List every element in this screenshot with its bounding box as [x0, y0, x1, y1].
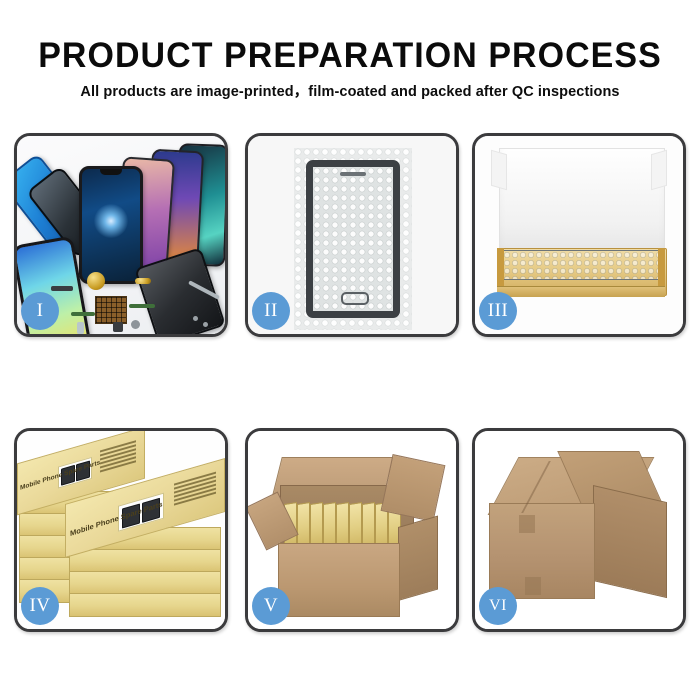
- step-badge-6: VI: [479, 587, 517, 625]
- step-panel-1: I: [14, 133, 228, 337]
- step-5-image: V: [248, 431, 456, 629]
- box-lid-flap-left: [491, 150, 507, 191]
- part-sim-tray: [77, 322, 84, 334]
- tray-front-edge: [497, 286, 665, 297]
- step-panel-3: III: [472, 133, 686, 337]
- carton-front-face: [278, 543, 400, 617]
- part-flex-cable-right: [129, 304, 155, 308]
- carton-right-face: [593, 485, 667, 598]
- step-badge-1: I: [21, 292, 59, 330]
- stacked-box: [69, 571, 221, 595]
- lid-spec-lines: [174, 472, 216, 508]
- carton-front-face: [489, 503, 595, 599]
- page-subtitle: All products are image-printed，film-coat…: [0, 80, 700, 101]
- step-badge-3: III: [479, 292, 517, 330]
- step-badge-2: II: [252, 292, 290, 330]
- phone-notch: [100, 169, 122, 175]
- steps-grid: I II: [14, 133, 686, 632]
- earpiece-slot: [340, 172, 366, 176]
- step-badge-5: V: [252, 587, 290, 625]
- part-chip-array: [95, 296, 127, 324]
- step-6-image: VI: [475, 431, 683, 629]
- part-speaker-module: [87, 272, 105, 290]
- box-lid-flap-right: [651, 150, 667, 191]
- carton-side-face: [398, 516, 438, 601]
- stacked-box: [69, 593, 221, 617]
- step-panel-5: V: [245, 428, 459, 632]
- lid-spec-lines: [100, 440, 136, 474]
- step-panel-4: Mobile Phone Spare Parts Mobile Phone Sp…: [14, 428, 228, 632]
- step-3-image: III: [475, 136, 683, 334]
- product-preparation-infographic: PRODUCT PREPARATION PROCESS All products…: [0, 0, 700, 700]
- box-lid-white: [499, 148, 665, 258]
- stacked-box: [69, 549, 221, 573]
- wrapped-screen-in-box: [502, 250, 662, 280]
- part-antenna-strip: [51, 286, 73, 291]
- carton-tape-lower: [525, 577, 541, 595]
- step-1-image: I: [17, 136, 225, 334]
- phone-screen-glass: [79, 166, 143, 284]
- step-2-image: II: [248, 136, 456, 334]
- part-screw-2: [203, 322, 208, 327]
- step-badge-4: IV: [21, 587, 59, 625]
- step-panel-6: VI: [472, 428, 686, 632]
- home-button: [341, 292, 369, 305]
- page-title: PRODUCT PREPARATION PROCESS: [11, 36, 690, 76]
- part-button: [131, 320, 140, 329]
- part-gold-connector: [135, 278, 151, 284]
- carton-tape-upper: [519, 515, 535, 533]
- part-camera-module: [113, 322, 123, 332]
- wrapped-phone-screen: [306, 160, 400, 318]
- step-4-image: Mobile Phone Spare Parts Mobile Phone Sp…: [17, 431, 225, 629]
- part-screw: [193, 316, 198, 321]
- step-panel-2: II: [245, 133, 459, 337]
- part-flex-cable-left: [71, 312, 95, 316]
